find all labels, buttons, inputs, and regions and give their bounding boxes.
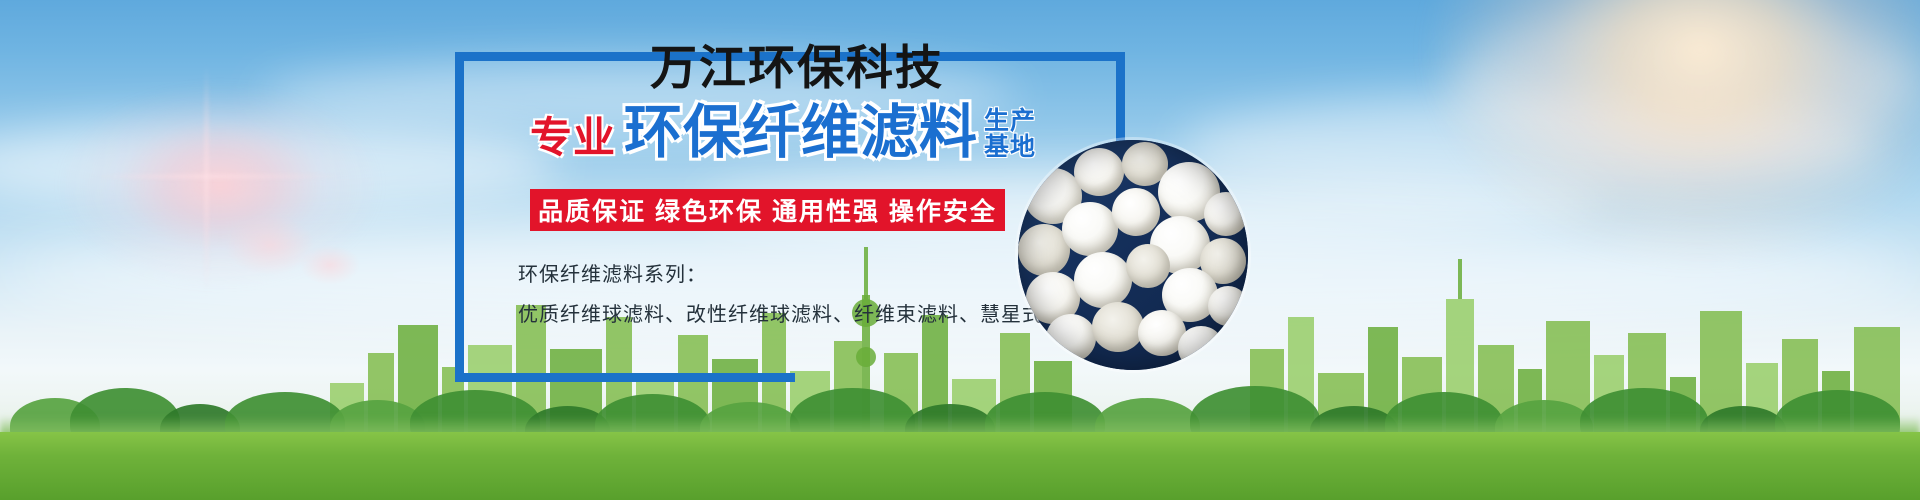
product-photo: [1018, 140, 1248, 370]
series-label: 环保纤维滤料系列：: [518, 258, 707, 287]
lens-flare-ray: [95, 175, 345, 178]
feature-highlight-bar: 品质保证 绿色环保 通用性强 操作安全: [530, 189, 1005, 231]
main-slogan: 专业 环保纤维滤料 生产 基地: [530, 104, 1036, 162]
slogan-prefix: 专业: [530, 117, 616, 162]
slogan-suffix-line-1: 生产: [984, 108, 1036, 134]
company-title: 万江环保科技: [650, 44, 944, 91]
slogan-main: 环保纤维滤料: [624, 104, 978, 162]
frame-border-right: [1116, 52, 1125, 142]
promo-banner: 万江环保科技 专业 环保纤维滤料 生产 基地 品质保证 绿色环保 通用性强 操作…: [0, 0, 1920, 500]
product-photo-vignette: [1018, 140, 1248, 370]
feature-highlight-text: 品质保证 绿色环保 通用性强 操作安全: [538, 192, 997, 228]
grass-field: [0, 432, 1920, 500]
frame-border-bottom: [455, 373, 795, 382]
frame-border-left: [455, 52, 464, 382]
